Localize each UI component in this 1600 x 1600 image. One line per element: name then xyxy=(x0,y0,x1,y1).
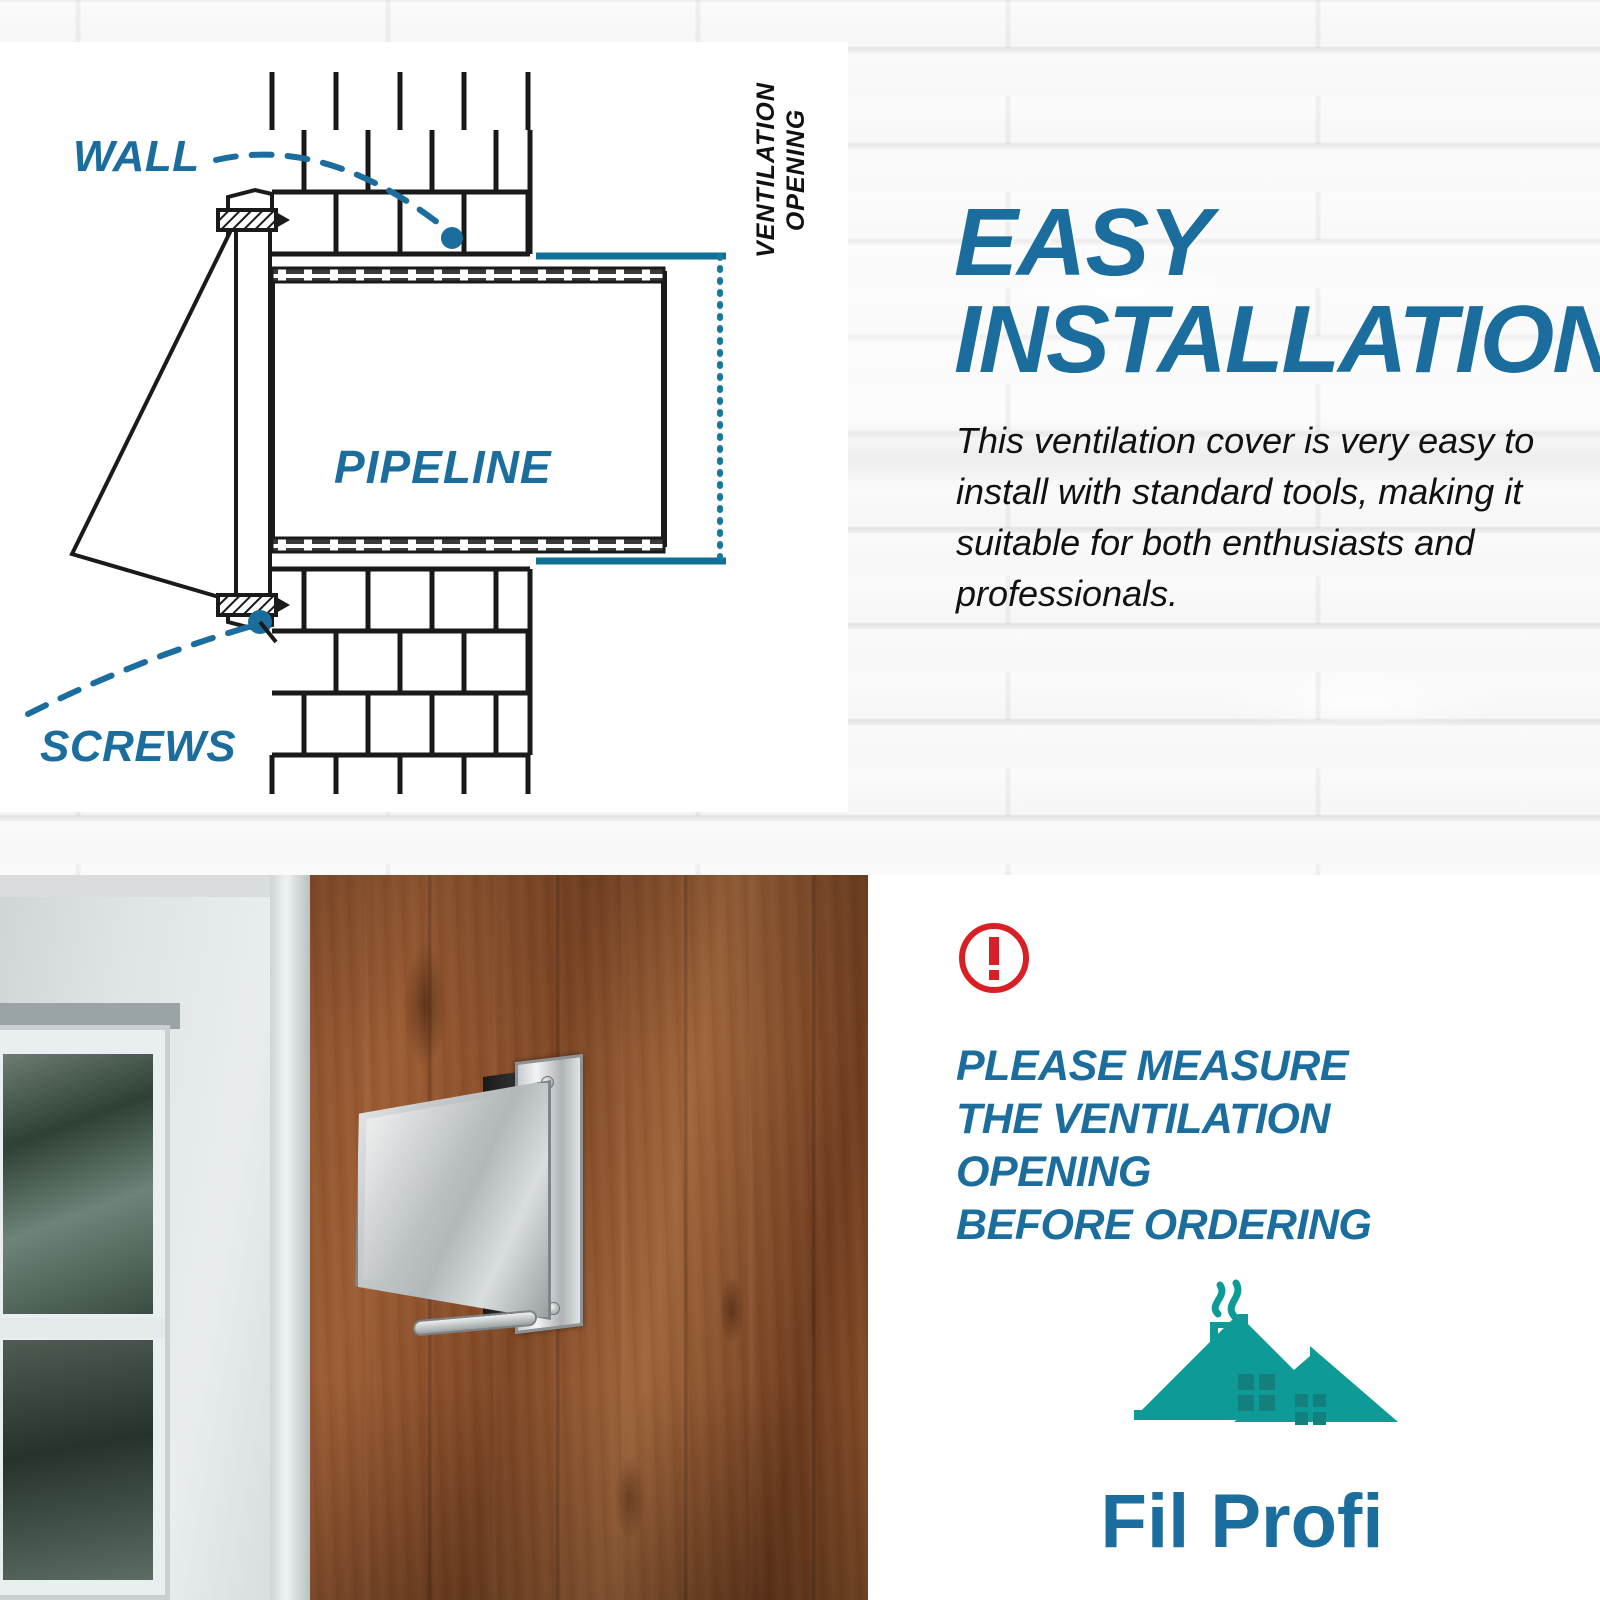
diagram-label-ventilation-opening: VENTILATION OPENING xyxy=(752,40,811,300)
house-with-chimney-icon xyxy=(1042,1270,1442,1480)
ventilation-label-line-2: OPENING xyxy=(782,40,812,300)
warning-and-brand-panel: PLEASE MEASURE THE VENTILATION OPENING B… xyxy=(868,875,1600,1600)
wall-callout-dot xyxy=(441,227,463,249)
warning-line-4: BEFORE ORDERING xyxy=(956,1199,1371,1252)
screws-callout-leader xyxy=(28,626,252,714)
lower-brick-wall xyxy=(272,569,530,794)
brand-name: Fil Profi xyxy=(1042,1478,1442,1565)
diagram-label-screws: SCREWS xyxy=(40,722,236,772)
diagram-label-wall: WALL xyxy=(73,132,200,182)
product-photo xyxy=(0,875,868,1600)
window-glass-upper xyxy=(3,1054,153,1314)
warning-line-2: THE VENTILATION xyxy=(956,1093,1371,1146)
warning-line-3: OPENING xyxy=(956,1146,1371,1199)
vent-flap-highlight xyxy=(363,1088,543,1310)
window-frame xyxy=(0,1025,170,1600)
window-glass-lower xyxy=(3,1340,153,1580)
infographic-root: WALL PIPELINE SCREWS VENTILATION OPENING… xyxy=(0,0,1600,1600)
ventilation-label-line-1: VENTILATION xyxy=(752,40,782,300)
headline-line-1: EASY xyxy=(954,195,1211,291)
brand-logo: Fil Profi xyxy=(1042,1270,1442,1570)
pipeline-duct xyxy=(272,268,664,552)
installation-diagram-panel: WALL PIPELINE SCREWS VENTILATION OPENING xyxy=(0,42,848,812)
headline-body-copy: This ventilation cover is very easy to i… xyxy=(956,415,1566,619)
hinged-flap xyxy=(72,220,236,602)
warning-line-1: PLEASE MEASURE xyxy=(956,1040,1371,1093)
wall-corner-trim xyxy=(270,875,310,1600)
easy-installation-panel: EASY INSTALLATION This ventilation cover… xyxy=(850,0,1600,875)
window-mullion xyxy=(0,1318,165,1338)
upper-brick-wall xyxy=(272,72,530,254)
product-photo-panel xyxy=(0,875,868,1600)
installed-vent-cover xyxy=(355,1070,605,1335)
warning-text-block: PLEASE MEASURE THE VENTILATION OPENING B… xyxy=(956,1040,1371,1252)
diagram-label-pipeline: PIPELINE xyxy=(334,440,552,494)
sky-strip xyxy=(0,875,300,897)
exclamation-circle-icon xyxy=(956,920,1032,996)
headline-line-2: INSTALLATION xyxy=(954,292,1600,388)
screw-top xyxy=(218,210,290,230)
